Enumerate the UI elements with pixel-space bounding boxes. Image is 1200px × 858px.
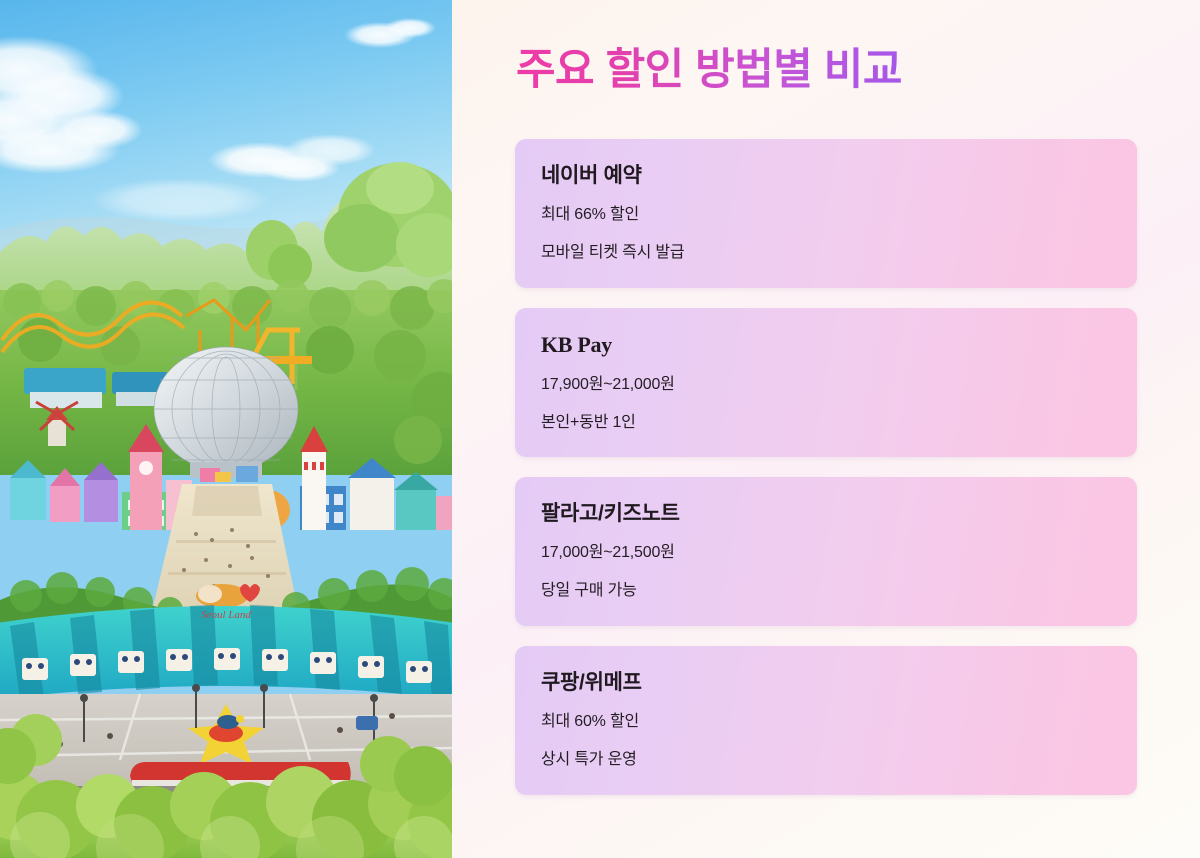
discount-card[interactable]: 팔라고/키즈노트 17,000원~21,500원 당일 구매 가능 — [515, 477, 1137, 626]
content-panel: 주요 할인 방법별 비교 네이버 예약 최대 66% 할인 모바일 티켓 즉시 … — [452, 0, 1200, 858]
discount-method-card-list: 네이버 예약 최대 66% 할인 모바일 티켓 즉시 발급 KB Pay 17,… — [515, 139, 1137, 795]
discount-card-detail-1: 최대 60% 할인 — [541, 712, 1111, 732]
discount-card-detail-1: 17,000원~21,500원 — [541, 543, 1111, 563]
discount-card-detail-2: 모바일 티켓 즉시 발급 — [541, 243, 1111, 263]
theme-park-photo: Seoul Land — [0, 0, 452, 858]
comparison-page: Seoul Land — [0, 0, 1200, 858]
page-title: 주요 할인 방법별 비교 — [516, 44, 902, 96]
discount-card[interactable]: 쿠팡/위메프 최대 60% 할인 상시 특가 운영 — [515, 646, 1137, 795]
discount-card-title: 네이버 예약 — [541, 163, 1111, 188]
discount-card-title: KB Pay — [541, 332, 1111, 358]
discount-card-detail-1: 최대 66% 할인 — [541, 205, 1111, 225]
discount-card-title: 쿠팡/위메프 — [541, 670, 1111, 695]
discount-card-detail-2: 상시 특가 운영 — [541, 750, 1111, 770]
discount-card-detail-1: 17,900원~21,000원 — [541, 375, 1111, 395]
park-sign-text: Seoul Land — [201, 609, 251, 621]
discount-card-title: 팔라고/키즈노트 — [541, 501, 1111, 526]
discount-card[interactable]: 네이버 예약 최대 66% 할인 모바일 티켓 즉시 발급 — [515, 139, 1137, 288]
discount-card-detail-2: 당일 구매 가능 — [541, 581, 1111, 601]
discount-card-detail-2: 본인+동반 1인 — [541, 413, 1111, 433]
seoul-land-aerial-illustration: Seoul Land — [0, 0, 452, 858]
discount-card[interactable]: KB Pay 17,900원~21,000원 본인+동반 1인 — [515, 308, 1137, 457]
